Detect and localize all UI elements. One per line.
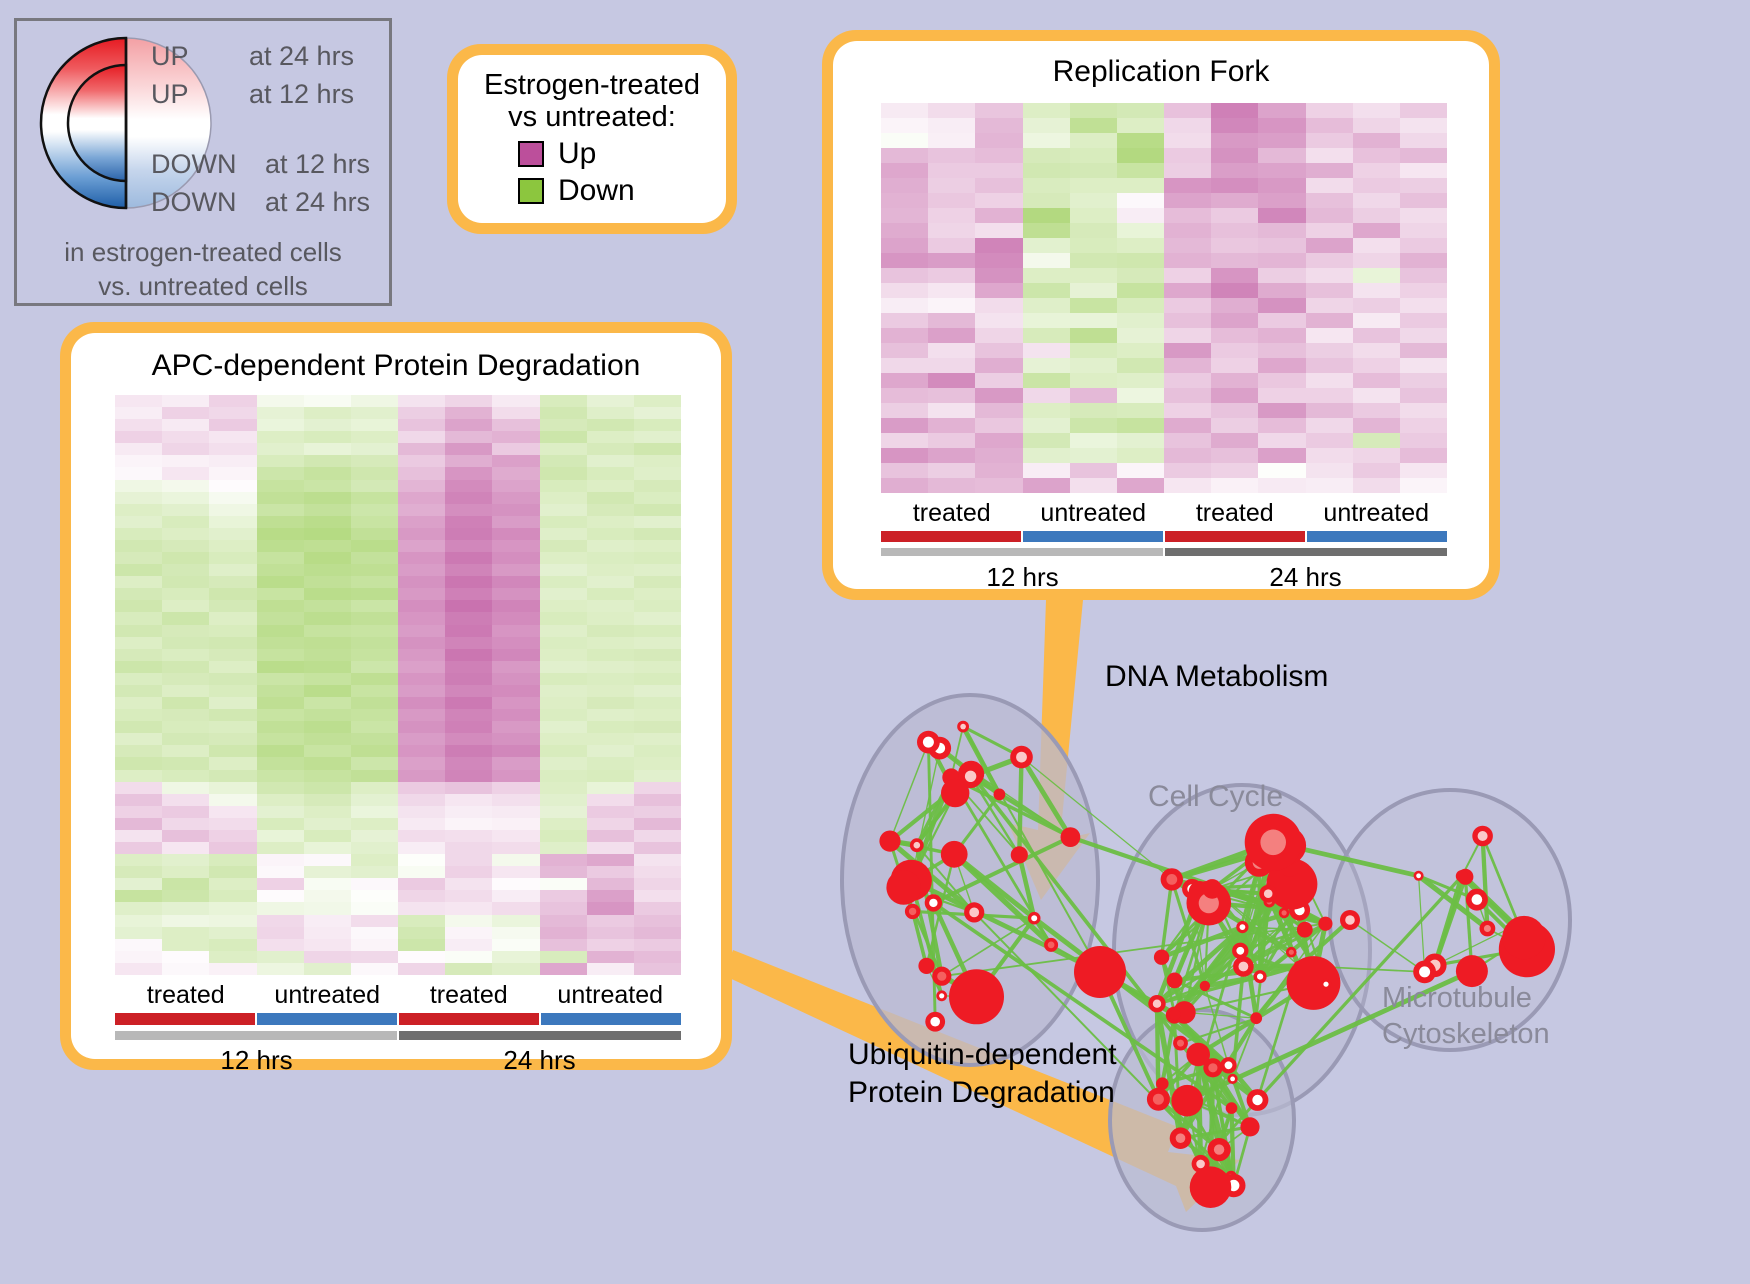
heatmap-cell xyxy=(1023,463,1070,478)
heatmap-cell xyxy=(1164,133,1211,148)
heatmap-cell xyxy=(1211,358,1258,373)
heatmap-cell xyxy=(492,492,539,504)
heatmap-cell xyxy=(115,697,162,709)
node-inner xyxy=(1177,1040,1184,1047)
heatmap-cell xyxy=(540,625,587,637)
treatment-label: untreated xyxy=(257,981,399,1010)
heatmap-cell xyxy=(257,419,304,431)
heatmap-cell xyxy=(1400,313,1447,328)
heatmap-cell xyxy=(209,878,256,890)
network-node[interactable] xyxy=(1011,846,1028,863)
heatmap-cell xyxy=(634,794,681,806)
heatmap-cell xyxy=(975,148,1022,163)
heatmap-cell xyxy=(492,915,539,927)
heatmap-cell xyxy=(351,588,398,600)
network-node[interactable] xyxy=(1414,871,1424,881)
heatmap-cell xyxy=(1353,208,1400,223)
heatmap-cell xyxy=(1258,298,1305,313)
heatmap-cell xyxy=(398,685,445,697)
node-inner xyxy=(1484,925,1491,932)
heatmap-cell xyxy=(257,806,304,818)
heatmap-cell xyxy=(115,757,162,769)
heatmap-cell xyxy=(304,782,351,794)
heatmap-cell xyxy=(540,697,587,709)
heatmap-cell xyxy=(634,431,681,443)
heatmap-cell xyxy=(634,951,681,963)
heatmap-cell xyxy=(928,448,975,463)
heatmap-cell xyxy=(257,407,304,419)
node-outer xyxy=(941,841,968,868)
heatmap-cell xyxy=(304,492,351,504)
node-inner xyxy=(939,993,944,998)
heatmap-cell xyxy=(634,878,681,890)
heatmap-cell xyxy=(162,673,209,685)
heatmap-cell xyxy=(492,866,539,878)
heatmap-cell xyxy=(587,552,634,564)
heatmap-cell xyxy=(398,866,445,878)
heatmap-cell xyxy=(1258,403,1305,418)
network-node[interactable] xyxy=(1010,746,1033,769)
heatmap-cell xyxy=(587,528,634,540)
heatmap-cell xyxy=(162,794,209,806)
heatmap-cell xyxy=(975,103,1022,118)
legend-time-1: at 12 hrs xyxy=(249,79,354,110)
heatmap-cell xyxy=(1258,193,1305,208)
heatmap-cell xyxy=(1023,448,1070,463)
heatmap-cell xyxy=(634,902,681,914)
heatmap-cell xyxy=(881,358,928,373)
heatmap-cell xyxy=(398,612,445,624)
heatmap-cell xyxy=(445,612,492,624)
heatmap-cell xyxy=(1258,448,1305,463)
heatmap-cell xyxy=(634,516,681,528)
heatmap-cell xyxy=(1211,133,1258,148)
heatmap-cell xyxy=(1070,478,1117,493)
network-node[interactable] xyxy=(879,831,900,852)
heatmap-cell xyxy=(1353,133,1400,148)
heatmap-cell xyxy=(928,433,975,448)
network-node[interactable] xyxy=(1287,956,1341,1010)
heatmap-cell xyxy=(492,697,539,709)
heatmap-cell xyxy=(257,951,304,963)
heatmap-cell xyxy=(304,431,351,443)
heatmap-cell xyxy=(115,528,162,540)
heatmap-cell xyxy=(928,373,975,388)
heatmap-cell xyxy=(492,818,539,830)
node-outer xyxy=(1171,1085,1203,1117)
heatmap-cell xyxy=(1400,178,1447,193)
heatmap-cell xyxy=(1070,373,1117,388)
heatmap-cell xyxy=(540,673,587,685)
apc-treatment-bar xyxy=(115,1013,681,1025)
network-node[interactable] xyxy=(1250,1012,1262,1024)
network-node[interactable] xyxy=(1200,981,1210,991)
heatmap-cell xyxy=(115,419,162,431)
heatmap-cell xyxy=(1400,388,1447,403)
network-node[interactable] xyxy=(1147,1088,1170,1111)
heatmap-cell xyxy=(162,588,209,600)
heatmap-cell xyxy=(209,927,256,939)
heatmap-cell xyxy=(1117,193,1164,208)
heatmap-cell xyxy=(257,600,304,612)
heatmap-cell xyxy=(445,673,492,685)
heatmap-cell xyxy=(257,878,304,890)
network-node[interactable] xyxy=(1203,1058,1222,1077)
heatmap-cell xyxy=(492,455,539,467)
heatmap-cell xyxy=(445,890,492,902)
heatmap-cell xyxy=(634,504,681,516)
heatmap-cell xyxy=(634,709,681,721)
network-node[interactable] xyxy=(1148,995,1165,1012)
heatmap-cell xyxy=(304,721,351,733)
heatmap-cell xyxy=(1117,358,1164,373)
heatmap-cell xyxy=(351,854,398,866)
heatmap-cell xyxy=(1400,283,1447,298)
heatmap-cell xyxy=(881,223,928,238)
heatmap-cell xyxy=(975,328,1022,343)
heatmap-cell xyxy=(162,770,209,782)
heatmap-cell xyxy=(351,902,398,914)
heatmap-cell xyxy=(881,373,928,388)
network-node[interactable] xyxy=(1259,885,1277,903)
heatmap-cell xyxy=(257,552,304,564)
node-inner xyxy=(1048,942,1055,949)
heatmap-cell xyxy=(540,842,587,854)
heatmap-cell xyxy=(492,842,539,854)
network-node[interactable] xyxy=(1286,947,1297,958)
network-node[interactable] xyxy=(1247,1089,1269,1111)
node-outer xyxy=(1226,1102,1238,1114)
heatmap-cell xyxy=(445,745,492,757)
heatmap-cell xyxy=(928,193,975,208)
heatmap-cell xyxy=(587,637,634,649)
network-node[interactable] xyxy=(1472,826,1493,847)
replication-fork-time-bar xyxy=(881,548,1447,556)
heatmap-cell xyxy=(351,661,398,673)
heatmap-cell xyxy=(115,866,162,878)
heatmap-cell xyxy=(540,830,587,842)
heatmap-cell xyxy=(975,403,1022,418)
network-node[interactable] xyxy=(1074,946,1126,998)
heatmap-cell xyxy=(587,854,634,866)
heatmap-cell xyxy=(881,388,928,403)
heatmap-cell xyxy=(540,806,587,818)
heatmap-cell xyxy=(304,552,351,564)
network-node[interactable] xyxy=(932,967,951,986)
heatmap-cell xyxy=(540,709,587,721)
network-node[interactable] xyxy=(1208,1138,1231,1161)
heatmap-cell xyxy=(540,467,587,479)
network-node[interactable] xyxy=(1173,1036,1188,1051)
heatmap-cell xyxy=(492,757,539,769)
heatmap-cell xyxy=(1211,328,1258,343)
heatmap-cell xyxy=(540,528,587,540)
heatmap-cell xyxy=(398,661,445,673)
network-node[interactable] xyxy=(1202,879,1222,899)
heatmap-cell xyxy=(257,902,304,914)
heatmap-cell xyxy=(587,697,634,709)
network-node[interactable] xyxy=(1154,950,1169,965)
heatmap-cell xyxy=(304,540,351,552)
heatmap-cell xyxy=(1117,238,1164,253)
node-inner xyxy=(1236,947,1244,955)
heatmap-cell xyxy=(351,637,398,649)
network-node[interactable] xyxy=(1340,910,1360,930)
heatmap-cell xyxy=(881,208,928,223)
heatmap-cell xyxy=(162,649,209,661)
network-node[interactable] xyxy=(941,779,969,807)
heatmap-cell xyxy=(445,455,492,467)
heatmap-cell xyxy=(492,854,539,866)
network-node[interactable] xyxy=(1466,889,1488,911)
network-node[interactable] xyxy=(1161,868,1183,890)
heatmap-cell xyxy=(1353,118,1400,133)
heatmap-cell xyxy=(1070,448,1117,463)
node-inner xyxy=(1257,974,1263,980)
heatmap-cell xyxy=(1306,433,1353,448)
heatmap-cell xyxy=(1164,358,1211,373)
heatmap-cell xyxy=(1117,343,1164,358)
heatmap-cell xyxy=(304,794,351,806)
heatmap-cell xyxy=(209,721,256,733)
node-inner xyxy=(1260,830,1286,856)
network-node[interactable] xyxy=(925,1012,945,1032)
node-inner xyxy=(1416,873,1421,878)
heatmap-cell xyxy=(398,915,445,927)
heatmap-cell xyxy=(115,661,162,673)
legend-direction-2: DOWN xyxy=(151,149,236,180)
time-bar-segment xyxy=(399,1031,681,1040)
network-node[interactable] xyxy=(1297,922,1313,938)
network-node[interactable] xyxy=(941,841,968,868)
heatmap-cell xyxy=(1023,118,1070,133)
heatmap-cell xyxy=(445,782,492,794)
apc-time-bar xyxy=(115,1031,681,1040)
heatmap-cell xyxy=(975,238,1022,253)
heatmap-cell xyxy=(1353,403,1400,418)
heatmap-cell xyxy=(1211,223,1258,238)
heatmap-cell xyxy=(1023,478,1070,493)
heatmap-cell xyxy=(540,419,587,431)
heatmap-cell xyxy=(257,625,304,637)
heatmap-cell xyxy=(209,467,256,479)
heatmap-cell xyxy=(115,770,162,782)
network-node[interactable] xyxy=(905,904,920,919)
heatmap-cell xyxy=(1306,358,1353,373)
heatmap-cell xyxy=(492,540,539,552)
network-node[interactable] xyxy=(1236,921,1248,933)
network-node[interactable] xyxy=(1232,943,1248,959)
network-node[interactable] xyxy=(1169,1009,1180,1020)
heatmap-cell xyxy=(1211,283,1258,298)
cluster-label-ubiquitin-line1: Ubiquitin-dependent xyxy=(848,1038,1117,1072)
heatmap-cell xyxy=(304,854,351,866)
heatmap-cell xyxy=(1164,268,1211,283)
heatmap-cell xyxy=(540,540,587,552)
network-node[interactable] xyxy=(1502,916,1545,959)
heatmap-cell xyxy=(928,298,975,313)
heatmap-cell xyxy=(351,927,398,939)
network-node[interactable] xyxy=(1061,827,1081,847)
heatmap-cell xyxy=(351,431,398,443)
network-node[interactable] xyxy=(1233,956,1254,977)
heatmap-cell xyxy=(540,770,587,782)
network-node[interactable] xyxy=(1028,912,1041,925)
network-node[interactable] xyxy=(910,838,924,852)
heatmap-cell xyxy=(1306,418,1353,433)
network-node[interactable] xyxy=(1044,938,1058,952)
heatmap-cell xyxy=(975,358,1022,373)
network-node[interactable] xyxy=(1321,979,1332,990)
network-node[interactable] xyxy=(1245,814,1302,871)
heatmap-cell xyxy=(445,854,492,866)
heatmap-cell xyxy=(1306,373,1353,388)
heatmap-cell xyxy=(975,388,1022,403)
heatmap-cell xyxy=(398,770,445,782)
heatmap-cell xyxy=(975,463,1022,478)
node-inner xyxy=(1153,1094,1164,1105)
network-node[interactable] xyxy=(1254,970,1267,983)
heatmap-cell xyxy=(587,818,634,830)
heatmap-cell xyxy=(115,854,162,866)
node-inner xyxy=(1239,962,1249,972)
heatmap-cell xyxy=(1400,358,1447,373)
heatmap-cell xyxy=(445,564,492,576)
network-node[interactable] xyxy=(917,731,940,754)
heatmap-cell xyxy=(1211,253,1258,268)
heatmap-cell xyxy=(209,963,256,975)
heatmap-cell xyxy=(1023,208,1070,223)
heatmap-cell xyxy=(115,673,162,685)
network-node[interactable] xyxy=(1240,1117,1259,1136)
heatmap-cell xyxy=(1117,223,1164,238)
heatmap-cell xyxy=(928,148,975,163)
heatmap-cell xyxy=(445,419,492,431)
heatmap-cell xyxy=(1117,463,1164,478)
node-outer xyxy=(1011,846,1028,863)
heatmap-cell xyxy=(587,927,634,939)
network-node[interactable] xyxy=(1228,1074,1238,1084)
heatmap-cell xyxy=(881,253,928,268)
network-node[interactable] xyxy=(925,894,942,911)
node-inner xyxy=(1323,982,1328,987)
heatmap-cell xyxy=(492,733,539,745)
heatmap-cell xyxy=(634,407,681,419)
heatmap-cell xyxy=(398,927,445,939)
heatmap-cell xyxy=(257,794,304,806)
heatmap-cell xyxy=(445,806,492,818)
heatmap-cell xyxy=(445,576,492,588)
heatmap-cell xyxy=(587,576,634,588)
network-node[interactable] xyxy=(1190,1166,1232,1208)
heatmap-cell xyxy=(1070,298,1117,313)
heatmap-cell xyxy=(351,395,398,407)
heatmap-cell xyxy=(1211,373,1258,388)
network-node[interactable] xyxy=(1220,1057,1236,1073)
network-node[interactable] xyxy=(1171,1085,1203,1117)
heatmap-cell xyxy=(881,343,928,358)
heatmap-cell xyxy=(162,951,209,963)
heatmap-cell xyxy=(1306,238,1353,253)
heatmap-cell xyxy=(398,649,445,661)
node-outer xyxy=(1061,827,1081,847)
heatmap-cell xyxy=(162,661,209,673)
heatmap-cell xyxy=(398,625,445,637)
network-node[interactable] xyxy=(918,958,934,974)
heatmap-cell xyxy=(1400,418,1447,433)
heatmap-cell xyxy=(540,516,587,528)
network-node[interactable] xyxy=(1456,870,1468,882)
network-node[interactable] xyxy=(957,721,969,733)
heatmap-cell xyxy=(1117,148,1164,163)
network-node[interactable] xyxy=(1318,917,1332,931)
heatmap-cell xyxy=(1353,253,1400,268)
heatmap-cell xyxy=(928,313,975,328)
network-node[interactable] xyxy=(964,902,984,922)
heatmap-cell xyxy=(445,600,492,612)
heatmap-cell xyxy=(1070,463,1117,478)
heatmap-cell xyxy=(975,373,1022,388)
heatmap-cell xyxy=(115,915,162,927)
heatmap-cell xyxy=(634,745,681,757)
heatmap-cell xyxy=(209,757,256,769)
heatmap-cell xyxy=(162,540,209,552)
heatmap-cell xyxy=(162,431,209,443)
heatmap-cell xyxy=(634,455,681,467)
network-node[interactable] xyxy=(886,870,921,905)
heatmap-cell xyxy=(162,963,209,975)
network-node[interactable] xyxy=(949,969,1004,1024)
heatmap-cell xyxy=(587,673,634,685)
heatmap-cell xyxy=(634,637,681,649)
heatmap-cell xyxy=(634,915,681,927)
heatmap-cell xyxy=(540,733,587,745)
heatmap-cell xyxy=(398,516,445,528)
heatmap-cell xyxy=(492,685,539,697)
network-node[interactable] xyxy=(1226,1102,1238,1114)
network-node[interactable] xyxy=(1167,973,1183,989)
network-node[interactable] xyxy=(1170,1127,1192,1149)
heatmap-cell xyxy=(1117,133,1164,148)
heatmap-cell xyxy=(398,806,445,818)
network-node[interactable] xyxy=(936,990,947,1001)
heatmap-cell xyxy=(304,830,351,842)
heatmap-cell xyxy=(115,745,162,757)
heatmap-cell xyxy=(975,193,1022,208)
heatmap-cell xyxy=(1400,268,1447,283)
network-node[interactable] xyxy=(1413,961,1436,984)
heatmap-cell xyxy=(1117,103,1164,118)
heatmap-cell xyxy=(928,118,975,133)
heatmap-cell xyxy=(257,504,304,516)
legend-direction-3: DOWN xyxy=(151,187,236,218)
heatmap-cell xyxy=(1211,163,1258,178)
network-node[interactable] xyxy=(1480,921,1496,937)
heatmap-cell xyxy=(1164,193,1211,208)
heatmap-cell xyxy=(540,480,587,492)
heatmap-cell xyxy=(209,540,256,552)
heatmap-grid xyxy=(881,103,1447,493)
heatmap-cell xyxy=(1164,403,1211,418)
heatmap-cell xyxy=(587,588,634,600)
heatmap-cell xyxy=(1117,328,1164,343)
heatmap-cell xyxy=(1023,223,1070,238)
heatmap-cell xyxy=(398,431,445,443)
apc-inner: APC-dependent Protein Degradation treate… xyxy=(71,333,721,1059)
heatmap-cell xyxy=(1211,313,1258,328)
network-node[interactable] xyxy=(994,789,1006,801)
heatmap-cell xyxy=(881,118,928,133)
